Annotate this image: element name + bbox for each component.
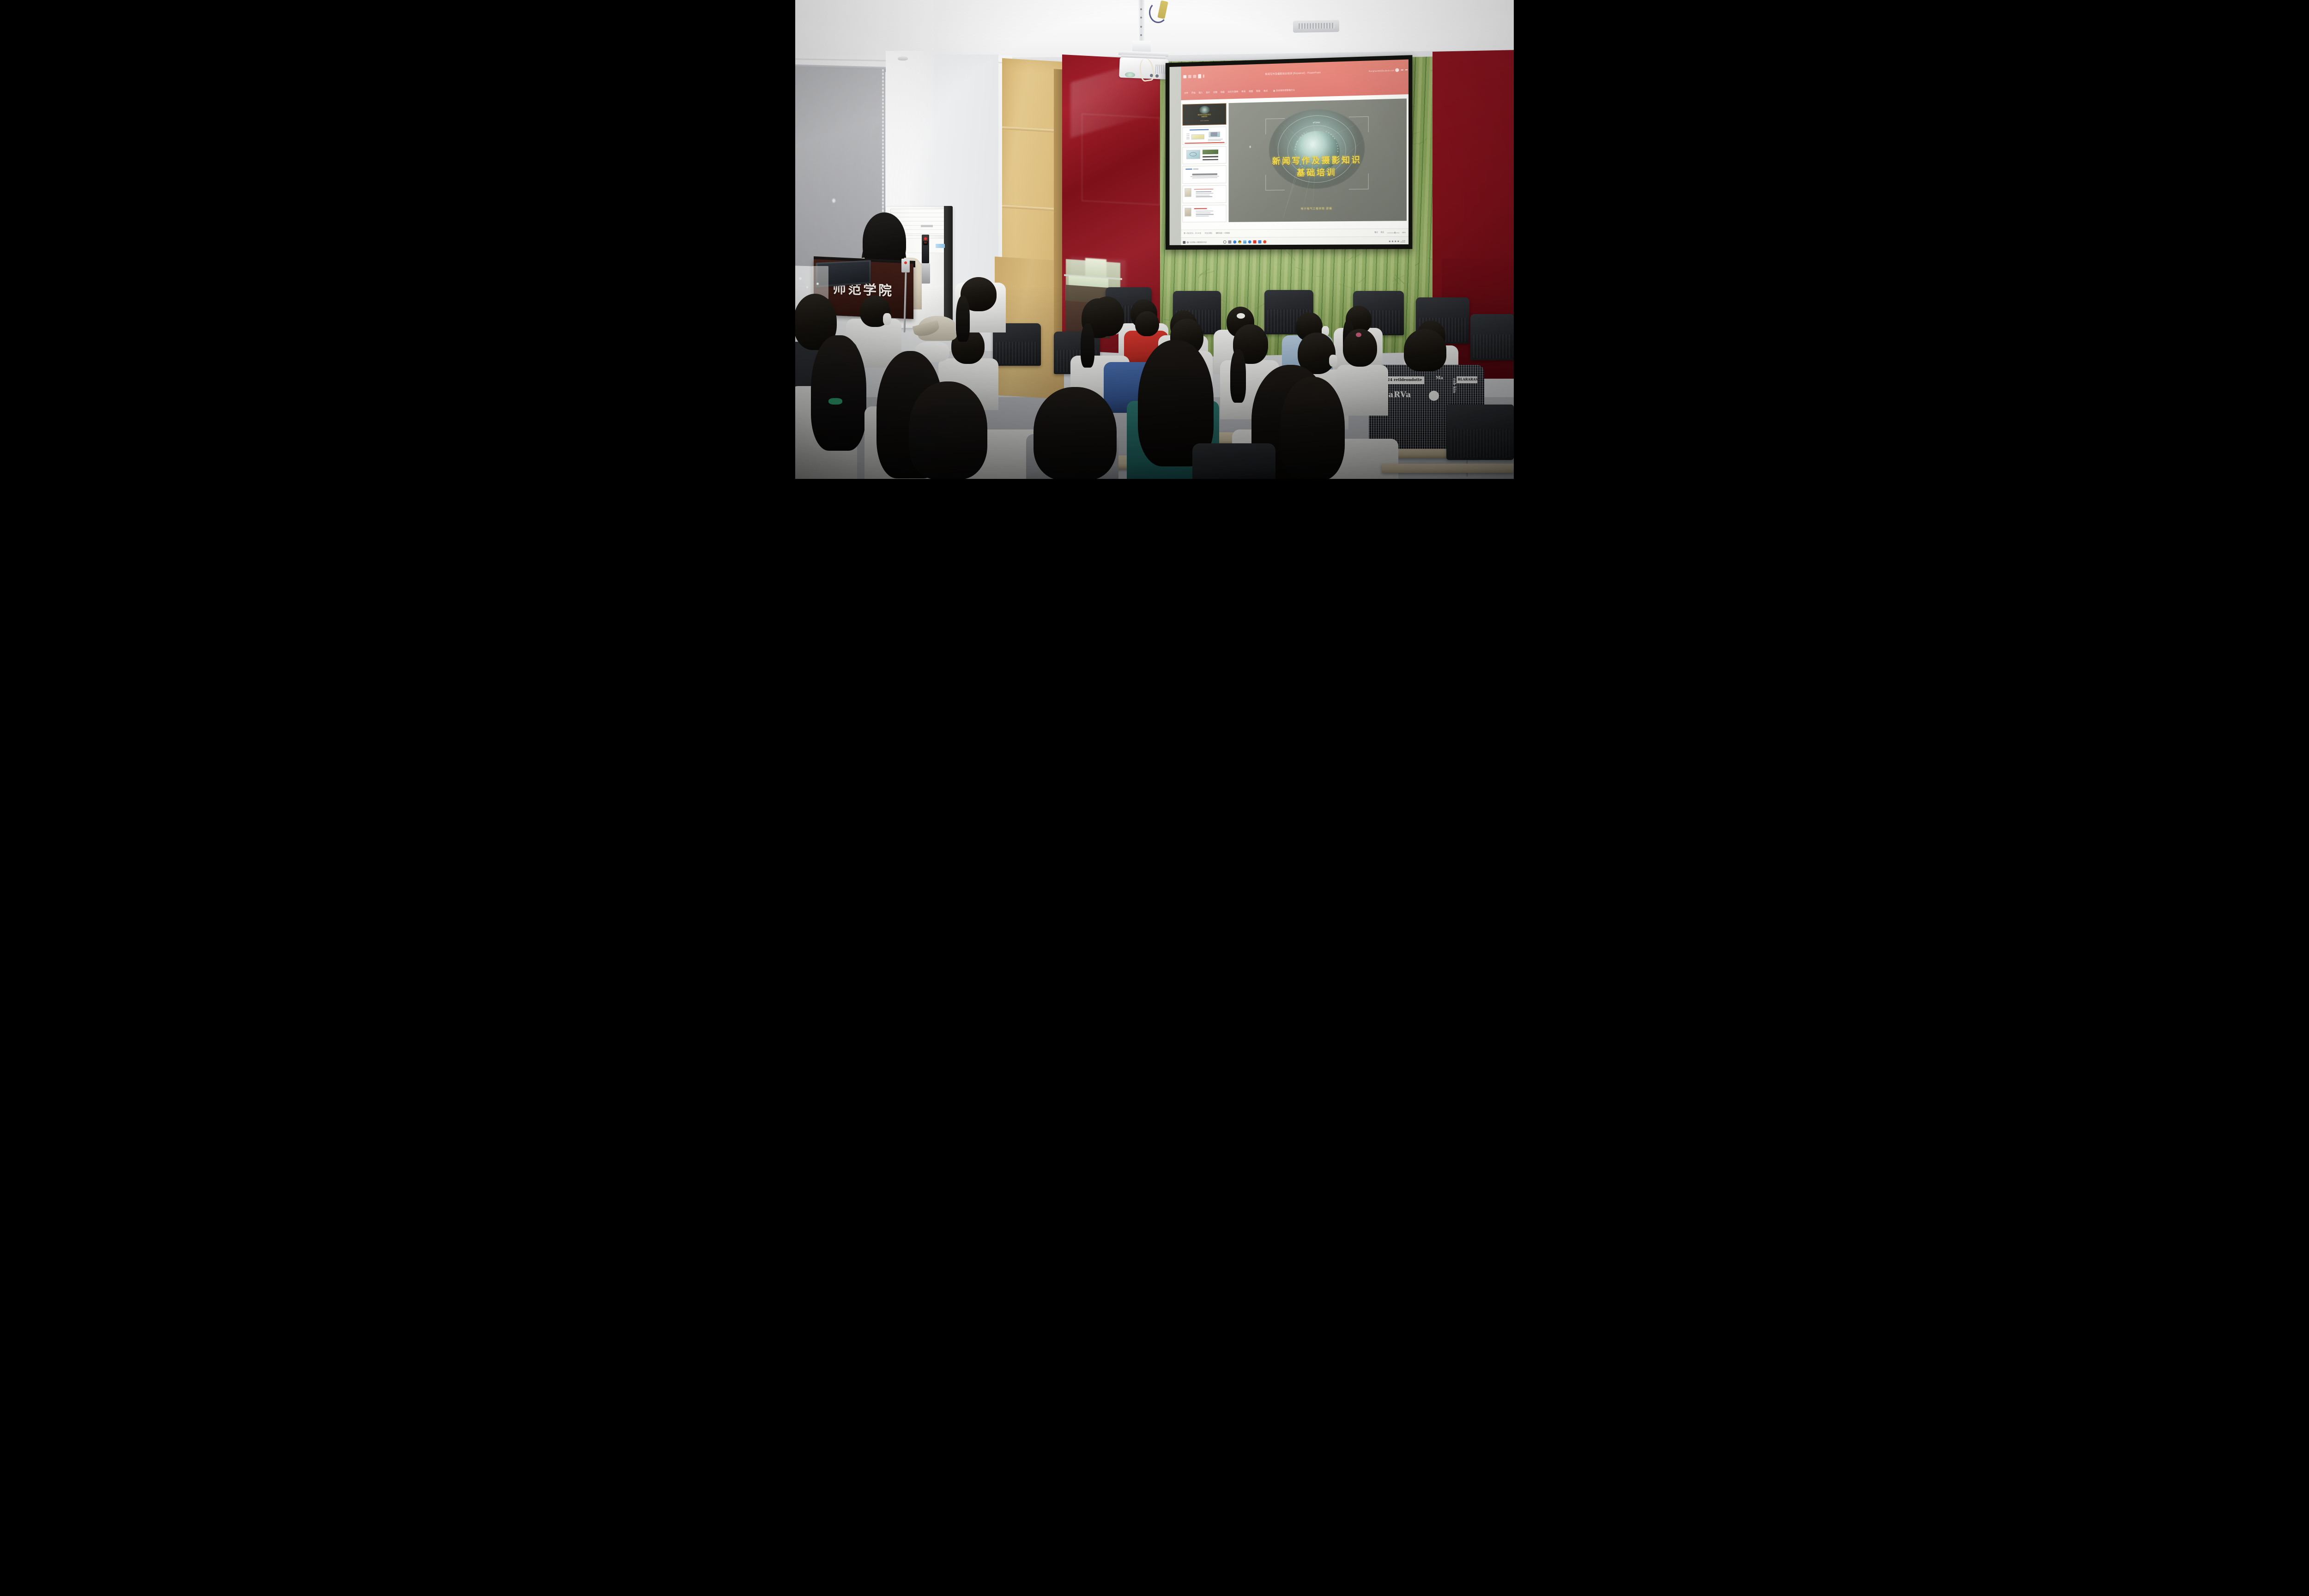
system-tray[interactable]: 10:38 2023/5/8 <box>1389 240 1407 243</box>
zoom-level[interactable]: 66% <box>1402 232 1405 234</box>
explorer-icon[interactable] <box>1243 241 1246 244</box>
microphone-base <box>901 259 910 272</box>
projection-screen-frame: 新闻写作及摄影知识培训 [Repaired] - PowerPoint lhon… <box>1166 55 1413 250</box>
tab-home[interactable]: 开始 <box>1191 91 1196 94</box>
thumb-title: 新闻写作及摄影知识 基础培训 <box>1185 113 1224 118</box>
hair-scrunchie <box>1237 313 1245 319</box>
list-item[interactable] <box>1182 185 1227 203</box>
tab-insert[interactable]: 插入 <box>1199 91 1203 94</box>
tab-slideshow[interactable]: 幻灯片放映 <box>1228 91 1239 94</box>
search-icon <box>1187 242 1189 243</box>
lecture-hall-photo: 新闻写作及摄影知识培训 [Repaired] - PowerPoint lhon… <box>795 0 1514 479</box>
tab-view[interactable]: 视图 <box>1249 90 1253 93</box>
ac-display-value: 88 <box>923 241 928 245</box>
comments-button[interactable]: 批注 <box>1381 231 1384 234</box>
tab-review[interactable]: 审阅 <box>1241 90 1245 93</box>
network-icon[interactable] <box>1392 241 1393 242</box>
chevron-up-icon[interactable] <box>1389 241 1390 242</box>
tab-help[interactable]: 帮助 <box>1256 90 1260 93</box>
cortana-icon[interactable] <box>1223 241 1227 244</box>
ac-brand-logo <box>921 225 933 227</box>
blind-highlight <box>832 199 835 203</box>
tab-design[interactable]: 设计 <box>1206 91 1210 94</box>
wps-icon[interactable] <box>1263 241 1267 244</box>
volume-icon[interactable] <box>1395 241 1396 242</box>
chrome-icon[interactable] <box>1238 241 1241 244</box>
hair-tie <box>1356 332 1361 337</box>
powerpoint-main: 新闻写作及摄影知识 基础培训 电子电气工程学院 邵璐 <box>1181 97 1408 230</box>
student-hair <box>956 296 970 342</box>
list-item[interactable] <box>1182 205 1227 223</box>
light-sparkle <box>816 283 819 285</box>
clock[interactable]: 10:38 2023/5/8 <box>1400 240 1405 243</box>
student-head <box>1135 311 1159 336</box>
lightbulb-icon <box>1273 90 1275 92</box>
red-wall-reflection-frame <box>1082 114 1160 206</box>
tab-file[interactable]: 文件 <box>1184 92 1188 95</box>
zoom-slider[interactable] <box>1387 232 1399 233</box>
windows-taskbar[interactable]: 在这里输入你要搜索的内容 <box>1181 236 1408 245</box>
projector-mount-pole <box>1138 0 1144 42</box>
slide-title: 新闻写作及摄影知识 基础培训 <box>1229 153 1407 180</box>
slide-thumbnail-panel[interactable]: 新闻写作及摄影知识 基础培训 电子电气工程学院 邵璐 <box>1181 102 1227 230</box>
search-placeholder: 在这里输入你要搜索的内容 <box>1190 241 1207 243</box>
list-item[interactable] <box>1182 127 1227 145</box>
lens-flare-icon <box>1250 145 1251 148</box>
task-view-icon[interactable] <box>1228 241 1232 244</box>
light-sparkle <box>806 286 808 288</box>
blind-chain[interactable] <box>882 69 884 222</box>
accessibility-indicator[interactable]: 辅助功能: 一切就绪 <box>1216 232 1230 235</box>
list-item[interactable]: 新闻写作及摄影知识 基础培训 电子电气工程学院 邵璐 <box>1182 103 1227 126</box>
restore-icon[interactable] <box>1401 70 1403 71</box>
slide-indicator: 第 1 张幻灯片，共 26 张 <box>1184 232 1201 235</box>
ime-icon[interactable] <box>1397 241 1399 242</box>
light-sparkle <box>799 277 802 280</box>
edge-icon[interactable] <box>1233 241 1237 244</box>
ceiling-vent-louvers <box>1299 23 1335 29</box>
tab-format[interactable]: 格式 <box>1263 90 1268 92</box>
projection-screen: 新闻写作及摄影知识培训 [Repaired] - PowerPoint lhon… <box>1169 60 1408 245</box>
ac-energy-sticker <box>936 244 945 248</box>
ac-power-led-icon <box>924 237 927 240</box>
tab-transitions[interactable]: 切换 <box>1213 91 1217 94</box>
face-mask <box>883 313 891 325</box>
tab-animations[interactable]: 动画 <box>1221 91 1225 94</box>
projector-button[interactable] <box>1155 74 1159 78</box>
tell-me-box[interactable]: 告诉我你想要做什么 <box>1276 89 1295 92</box>
notes-button[interactable]: 备注 <box>1374 231 1378 234</box>
list-item[interactable] <box>1182 165 1227 184</box>
slide-subtitle: 电子电气工程学院 邵璐 <box>1229 206 1407 212</box>
start-icon[interactable] <box>1183 241 1185 244</box>
student-head <box>1090 296 1124 336</box>
minimize-icon[interactable] <box>1396 70 1399 71</box>
current-slide[interactable]: ø72mm CANON ZOOM LENS EF LENS MADE IN JA… <box>1229 98 1407 222</box>
mail-icon[interactable] <box>1248 241 1251 244</box>
list-item[interactable] <box>1182 146 1227 164</box>
microphone-led-icon <box>904 261 907 264</box>
thumb-subtitle: 电子电气工程学院 邵璐 <box>1183 120 1226 122</box>
powerpoint-window: 新闻写作及摄影知识培训 [Repaired] - PowerPoint lhon… <box>1181 60 1408 245</box>
taskbar-apps[interactable] <box>1223 241 1266 244</box>
auditorium-chair[interactable] <box>1470 314 1514 360</box>
onedrive-icon[interactable] <box>1258 241 1262 244</box>
ac-side-panel <box>944 206 953 329</box>
smoke-detector-icon <box>898 56 908 60</box>
close-icon[interactable] <box>1405 69 1408 70</box>
language-indicator[interactable]: 中文(中国) <box>1205 232 1212 235</box>
ac-base <box>921 263 930 284</box>
projector-vent <box>1155 65 1166 74</box>
slide-editing-area[interactable]: ø72mm CANON ZOOM LENS EF LENS MADE IN JA… <box>1227 97 1408 230</box>
search-input[interactable]: 在这里输入你要搜索的内容 <box>1187 241 1207 243</box>
lens-thumb-icon <box>1199 106 1210 114</box>
pdf-icon[interactable] <box>1253 241 1257 244</box>
